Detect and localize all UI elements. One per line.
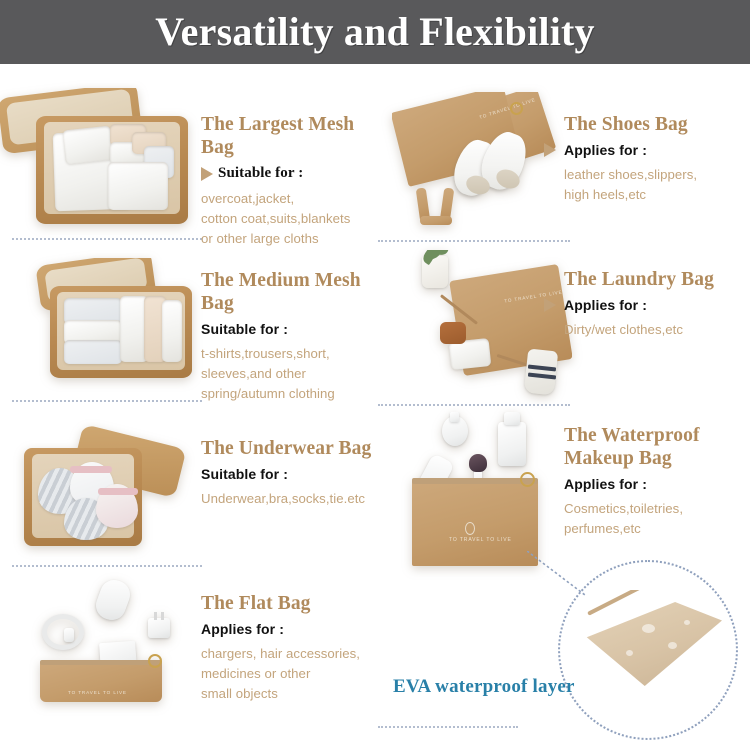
bag-description: t-shirts,trousers,short, sleeves,and oth… bbox=[201, 344, 393, 404]
bag-description: leather shoes,slippers, high heels,etc bbox=[564, 165, 746, 205]
bag-description: Cosmetics,toiletries, perfumes,etc bbox=[564, 499, 748, 539]
suitable-for-label: Suitable for : bbox=[201, 466, 288, 482]
underwear-bag-photo bbox=[12, 418, 196, 554]
bag-description: Dirty/wet clothes,etc bbox=[564, 320, 746, 340]
sub-label-row: Suitable for : bbox=[201, 321, 393, 337]
section-laundry-bag: The Laundry Bag Applies for : Dirty/wet … bbox=[564, 268, 746, 340]
section-waterproof-makeup-bag: The Waterproof Makeup Bag Applies for : … bbox=[564, 424, 748, 539]
bag-title: The Underwear Bag bbox=[201, 437, 397, 460]
section-underwear-bag: The Underwear Bag Suitable for : Underwe… bbox=[201, 437, 397, 509]
bag-title: The Laundry Bag bbox=[564, 268, 746, 291]
charger-cable-icon bbox=[42, 614, 84, 650]
suitable-for-label: Suitable for : bbox=[218, 165, 303, 182]
triangle-right-icon bbox=[544, 143, 556, 157]
bag-title: The Largest Mesh Bag bbox=[201, 113, 389, 159]
medium-mesh-bag-photo bbox=[28, 258, 200, 384]
sub-label-row: Applies for : bbox=[564, 142, 746, 158]
flat-bag-photo: TO TRAVEL TO LIVE bbox=[12, 578, 198, 702]
eva-waterproof-layer-photo bbox=[580, 590, 730, 712]
suitable-for-label: Suitable for : bbox=[201, 321, 288, 337]
bag-title: The Medium Mesh Bag bbox=[201, 269, 393, 315]
applies-for-label: Applies for : bbox=[201, 621, 284, 637]
bag-title: The Waterproof Makeup Bag bbox=[564, 424, 748, 470]
bag-description: chargers, hair accessories, medicines or… bbox=[201, 644, 391, 704]
sub-label-row: Suitable for : bbox=[201, 466, 397, 482]
sub-label-row: Suitable for : bbox=[201, 165, 389, 182]
divider-left-1 bbox=[12, 238, 202, 240]
bag-title: The Shoes Bag bbox=[564, 113, 746, 136]
triangle-right-icon bbox=[201, 167, 213, 181]
callout-leader-line bbox=[527, 551, 587, 597]
section-medium-mesh-bag: The Medium Mesh Bag Suitable for : t-shi… bbox=[201, 269, 393, 404]
makeup-bag-stamp: TO TRAVEL TO LIVE bbox=[449, 537, 512, 543]
bag-description: Underwear,bra,socks,tie.etc bbox=[201, 489, 397, 509]
applies-for-label: Applies for : bbox=[564, 297, 647, 313]
applies-for-label: Applies for : bbox=[564, 142, 647, 158]
section-shoes-bag: The Shoes Bag Applies for : leather shoe… bbox=[564, 113, 746, 205]
shoes-bag-photo: TO TRAVEL TO LIVE bbox=[392, 92, 564, 234]
page-title: Versatility and Flexibility bbox=[155, 12, 594, 52]
waterproof-makeup-bag-photo: TO TRAVEL TO LIVE bbox=[392, 412, 572, 570]
triangle-right-icon bbox=[544, 298, 556, 312]
bag-description: overcoat,jacket, cotton coat,suits,blank… bbox=[201, 189, 389, 249]
infographic-page: Versatility and Flexibility The Largest … bbox=[0, 0, 750, 750]
bag-title: The Flat Bag bbox=[201, 592, 391, 615]
applies-for-label: Applies for : bbox=[564, 476, 647, 492]
divider-right-1 bbox=[378, 240, 570, 242]
flat-bag-stamp: TO TRAVEL TO LIVE bbox=[68, 690, 127, 695]
sub-label-row: Applies for : bbox=[564, 476, 748, 492]
largest-mesh-bag-photo bbox=[0, 88, 194, 236]
laundry-bag-photo: TO TRAVEL TO LIVE bbox=[400, 250, 572, 402]
sub-label-row: Applies for : bbox=[564, 297, 746, 313]
divider-left-3 bbox=[12, 565, 202, 567]
header-bar: Versatility and Flexibility bbox=[0, 0, 750, 64]
eva-waterproof-layer-caption: EVA waterproof layer bbox=[393, 676, 575, 698]
section-largest-mesh-bag: The Largest Mesh Bag Suitable for : over… bbox=[201, 113, 389, 249]
section-flat-bag: The Flat Bag Applies for : chargers, hai… bbox=[201, 592, 391, 704]
sub-label-row: Applies for : bbox=[201, 621, 391, 637]
divider-right-2 bbox=[378, 404, 570, 406]
divider-left-2 bbox=[12, 400, 202, 402]
divider-right-3 bbox=[378, 726, 518, 728]
